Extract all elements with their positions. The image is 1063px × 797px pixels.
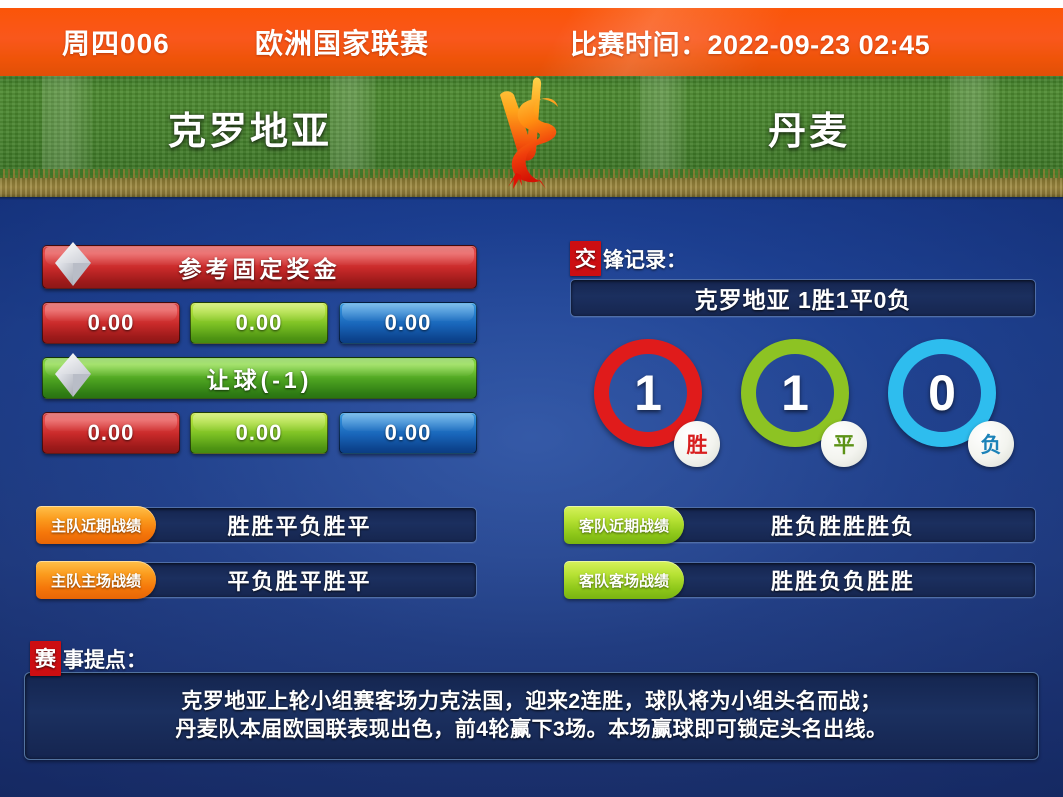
pitch-banner: 克罗地亚 丹麦 [0, 76, 1063, 197]
handicap-title-bar: 让球(-1) [42, 357, 477, 399]
match-time-label: 比赛时间：2022-09-23 02:45 [570, 23, 930, 62]
h2h-summary-panel: 克罗地亚 1胜1平0负 [570, 279, 1036, 317]
fixed-prize-title: 参考固定奖金 [179, 250, 341, 284]
h2h-title-text: 锋记录： [603, 244, 687, 274]
h2h-section-title: 交 锋记录： [570, 241, 687, 276]
home-recent-form-tag: 主队近期战绩 [36, 506, 156, 544]
tips-title-badge: 赛 [30, 641, 61, 676]
fixed-prize-win-value: 0.00 [88, 310, 135, 336]
h2h-draw-chip: 平 [821, 421, 867, 467]
handicap-lose-odds[interactable]: 0.00 [339, 412, 477, 454]
tips-title-text: 事提点： [63, 644, 147, 674]
fixed-prize-draw-odds[interactable]: 0.00 [190, 302, 328, 344]
away-recent-form-tag: 客队近期战绩 [564, 506, 684, 544]
match-round-label: 周四006 [62, 22, 170, 62]
handicap-draw-value: 0.00 [236, 420, 283, 446]
home-host-form-tag: 主队主场战绩 [36, 561, 156, 599]
home-recent-form-tag-label: 主队近期战绩 [51, 515, 141, 536]
fixed-prize-lose-odds[interactable]: 0.00 [339, 302, 477, 344]
away-guest-form-value: 胜胜负负胜胜 [691, 564, 915, 596]
home-host-form-tag-label: 主队主场战绩 [51, 570, 141, 591]
fixed-prize-draw-value: 0.00 [236, 310, 283, 336]
tips-line-1: 克罗地亚上轮小组赛客场力克法国，迎来2连胜，球队将为小组头名而战； [181, 688, 881, 716]
away-recent-form-value: 胜负胜胜胜负 [691, 509, 915, 541]
handicap-lose-value: 0.00 [385, 420, 432, 446]
tips-content-panel: 克罗地亚上轮小组赛客场力克法国，迎来2连胜，球队将为小组头名而战； 丹麦队本届欧… [24, 672, 1039, 760]
header-bar: 周四006 欧洲国家联赛 比赛时间：2022-09-23 02:45 [0, 8, 1063, 76]
fixed-prize-win-odds[interactable]: 0.00 [42, 302, 180, 344]
league-name-label: 欧洲国家联赛 [255, 22, 429, 62]
tips-line-2: 丹麦队本届欧国联表现出色，前4轮赢下3场。本场赢球即可锁定头名出线。 [175, 716, 887, 744]
away-guest-form-tag: 客队客场战绩 [564, 561, 684, 599]
h2h-ring-draw: 1 平 [741, 339, 861, 459]
away-team-name: 丹麦 [768, 100, 850, 155]
vs-flame-icon [486, 76, 578, 191]
h2h-title-badge: 交 [570, 241, 601, 276]
handicap-win-odds[interactable]: 0.00 [42, 412, 180, 454]
h2h-ring-lose: 0 负 [888, 339, 1008, 459]
home-host-form-value: 平负胜平胜平 [147, 564, 371, 596]
handicap-win-value: 0.00 [88, 420, 135, 446]
away-recent-form-tag-label: 客队近期战绩 [579, 515, 669, 536]
handicap-title: 让球(-1) [207, 361, 313, 395]
home-recent-form-value: 胜胜平负胜平 [147, 509, 371, 541]
tips-section-title: 赛 事提点： [30, 641, 147, 676]
h2h-lose-chip: 负 [968, 421, 1014, 467]
away-guest-form-tag-label: 客队客场战绩 [579, 570, 669, 591]
handicap-draw-odds[interactable]: 0.00 [190, 412, 328, 454]
h2h-ring-win: 1 胜 [594, 339, 714, 459]
fixed-prize-lose-value: 0.00 [385, 310, 432, 336]
home-team-name: 克罗地亚 [168, 100, 332, 155]
fixed-prize-title-bar: 参考固定奖金 [42, 245, 477, 289]
match-preview-card: 周四006 欧洲国家联赛 比赛时间：2022-09-23 02:45 克罗地亚 … [0, 0, 1063, 797]
h2h-win-chip: 胜 [674, 421, 720, 467]
h2h-summary-text: 克罗地亚 1胜1平0负 [695, 281, 912, 315]
